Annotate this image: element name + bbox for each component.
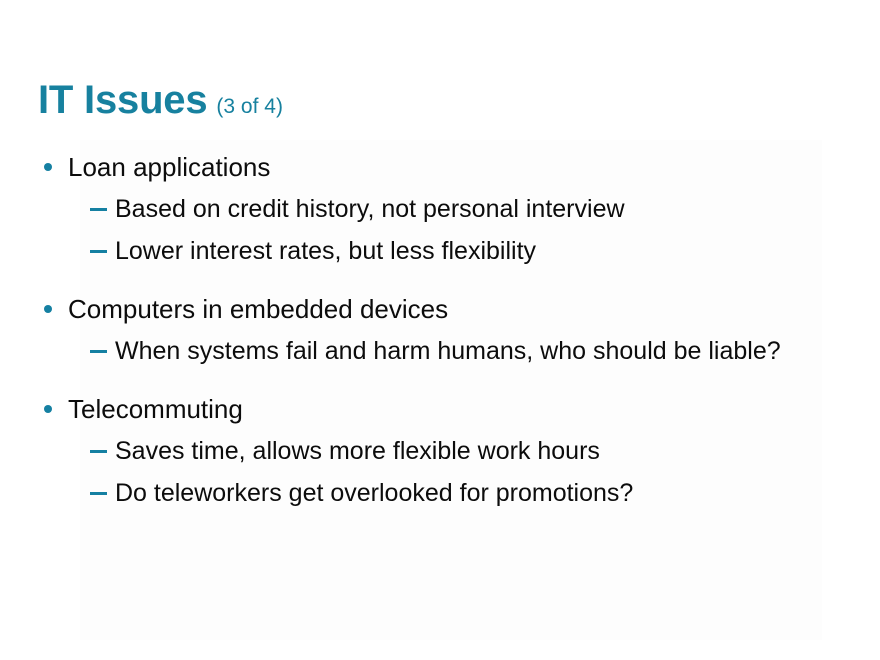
bullet-item-level2-label: When systems fail and harm humans, who s…: [115, 330, 838, 372]
bullet-dash-icon: [90, 492, 107, 495]
bullet-item-level1-label: Telecommuting: [68, 394, 243, 424]
bullet-item-level1: Telecommuting: [38, 388, 838, 430]
page-title-main: IT Issues: [38, 78, 207, 122]
bullet-item-level2-label: Based on credit history, not personal in…: [115, 188, 838, 230]
bullet-dot-icon: [44, 305, 52, 313]
bullet-item-level2: When systems fail and harm humans, who s…: [38, 330, 838, 372]
bullet-item-level2-label: Do teleworkers get overlooked for promot…: [115, 472, 838, 514]
bullet-group: Computers in embedded devices When syste…: [38, 288, 838, 372]
bullet-dot-icon: [44, 163, 52, 171]
bullet-item-level1: Computers in embedded devices: [38, 288, 838, 330]
bullet-dash-icon: [90, 250, 107, 253]
bullet-list: Loan applications Based on credit histor…: [38, 146, 838, 514]
bullet-group: Loan applications Based on credit histor…: [38, 146, 838, 272]
bullet-dash-icon: [90, 450, 107, 453]
bullet-item-level2: Do teleworkers get overlooked for promot…: [38, 472, 838, 514]
bullet-item-level1: Loan applications: [38, 146, 838, 188]
page-title: IT Issues(3 of 4): [38, 78, 838, 123]
bullet-dot-icon: [44, 405, 52, 413]
bullet-item-level2-label: Lower interest rates, but less flexibili…: [115, 230, 838, 272]
bullet-item-level2: Saves time, allows more flexible work ho…: [38, 430, 838, 472]
bullet-item-level2: Lower interest rates, but less flexibili…: [38, 230, 838, 272]
bullet-dash-icon: [90, 208, 107, 211]
bullet-group: Telecommuting Saves time, allows more fl…: [38, 388, 838, 514]
bullet-item-level2-label: Saves time, allows more flexible work ho…: [115, 430, 838, 472]
bullet-dash-icon: [90, 350, 107, 353]
bullet-item-level2: Based on credit history, not personal in…: [38, 188, 838, 230]
slide: IT Issues(3 of 4) Loan applications Base…: [0, 0, 880, 660]
bullet-item-level1-label: Loan applications: [68, 152, 270, 182]
bullet-item-level1-label: Computers in embedded devices: [68, 294, 448, 324]
page-title-suffix: (3 of 4): [216, 95, 283, 118]
